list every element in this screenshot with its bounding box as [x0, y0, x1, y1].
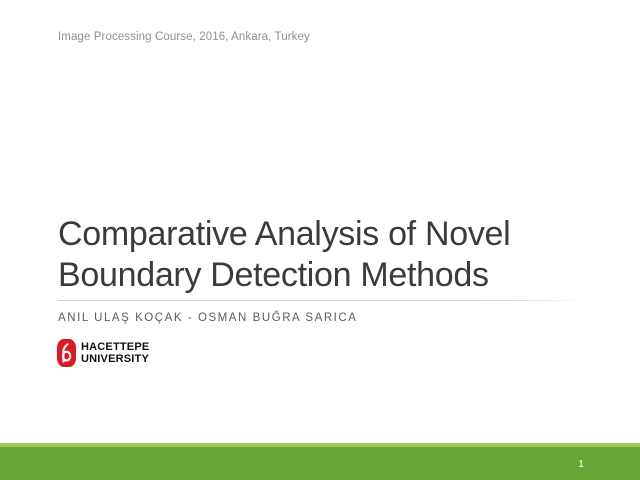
page-title: Comparative Analysis of Novel Boundary D… — [58, 214, 598, 296]
title-slide: Image Processing Course, 2016, Ankara, T… — [0, 0, 640, 480]
page-number: 1 — [0, 459, 640, 470]
hacettepe-h-mark-icon — [57, 339, 76, 367]
title-divider-rule — [58, 300, 582, 301]
slide-header-text: Image Processing Course, 2016, Ankara, T… — [58, 31, 310, 43]
logo-line-2: UNIVERSITY — [81, 353, 149, 366]
logo-line-1: HACETTEPE — [81, 341, 149, 354]
hacettepe-university-logo: HACETTEPE UNIVERSITY — [57, 339, 149, 367]
authors-subtitle: ANIL ULAŞ KOÇAK - OSMAN BUĞRA SARICA — [58, 312, 358, 324]
logo-wordmark: HACETTEPE UNIVERSITY — [81, 341, 149, 366]
title-block: Comparative Analysis of Novel Boundary D… — [58, 214, 598, 296]
